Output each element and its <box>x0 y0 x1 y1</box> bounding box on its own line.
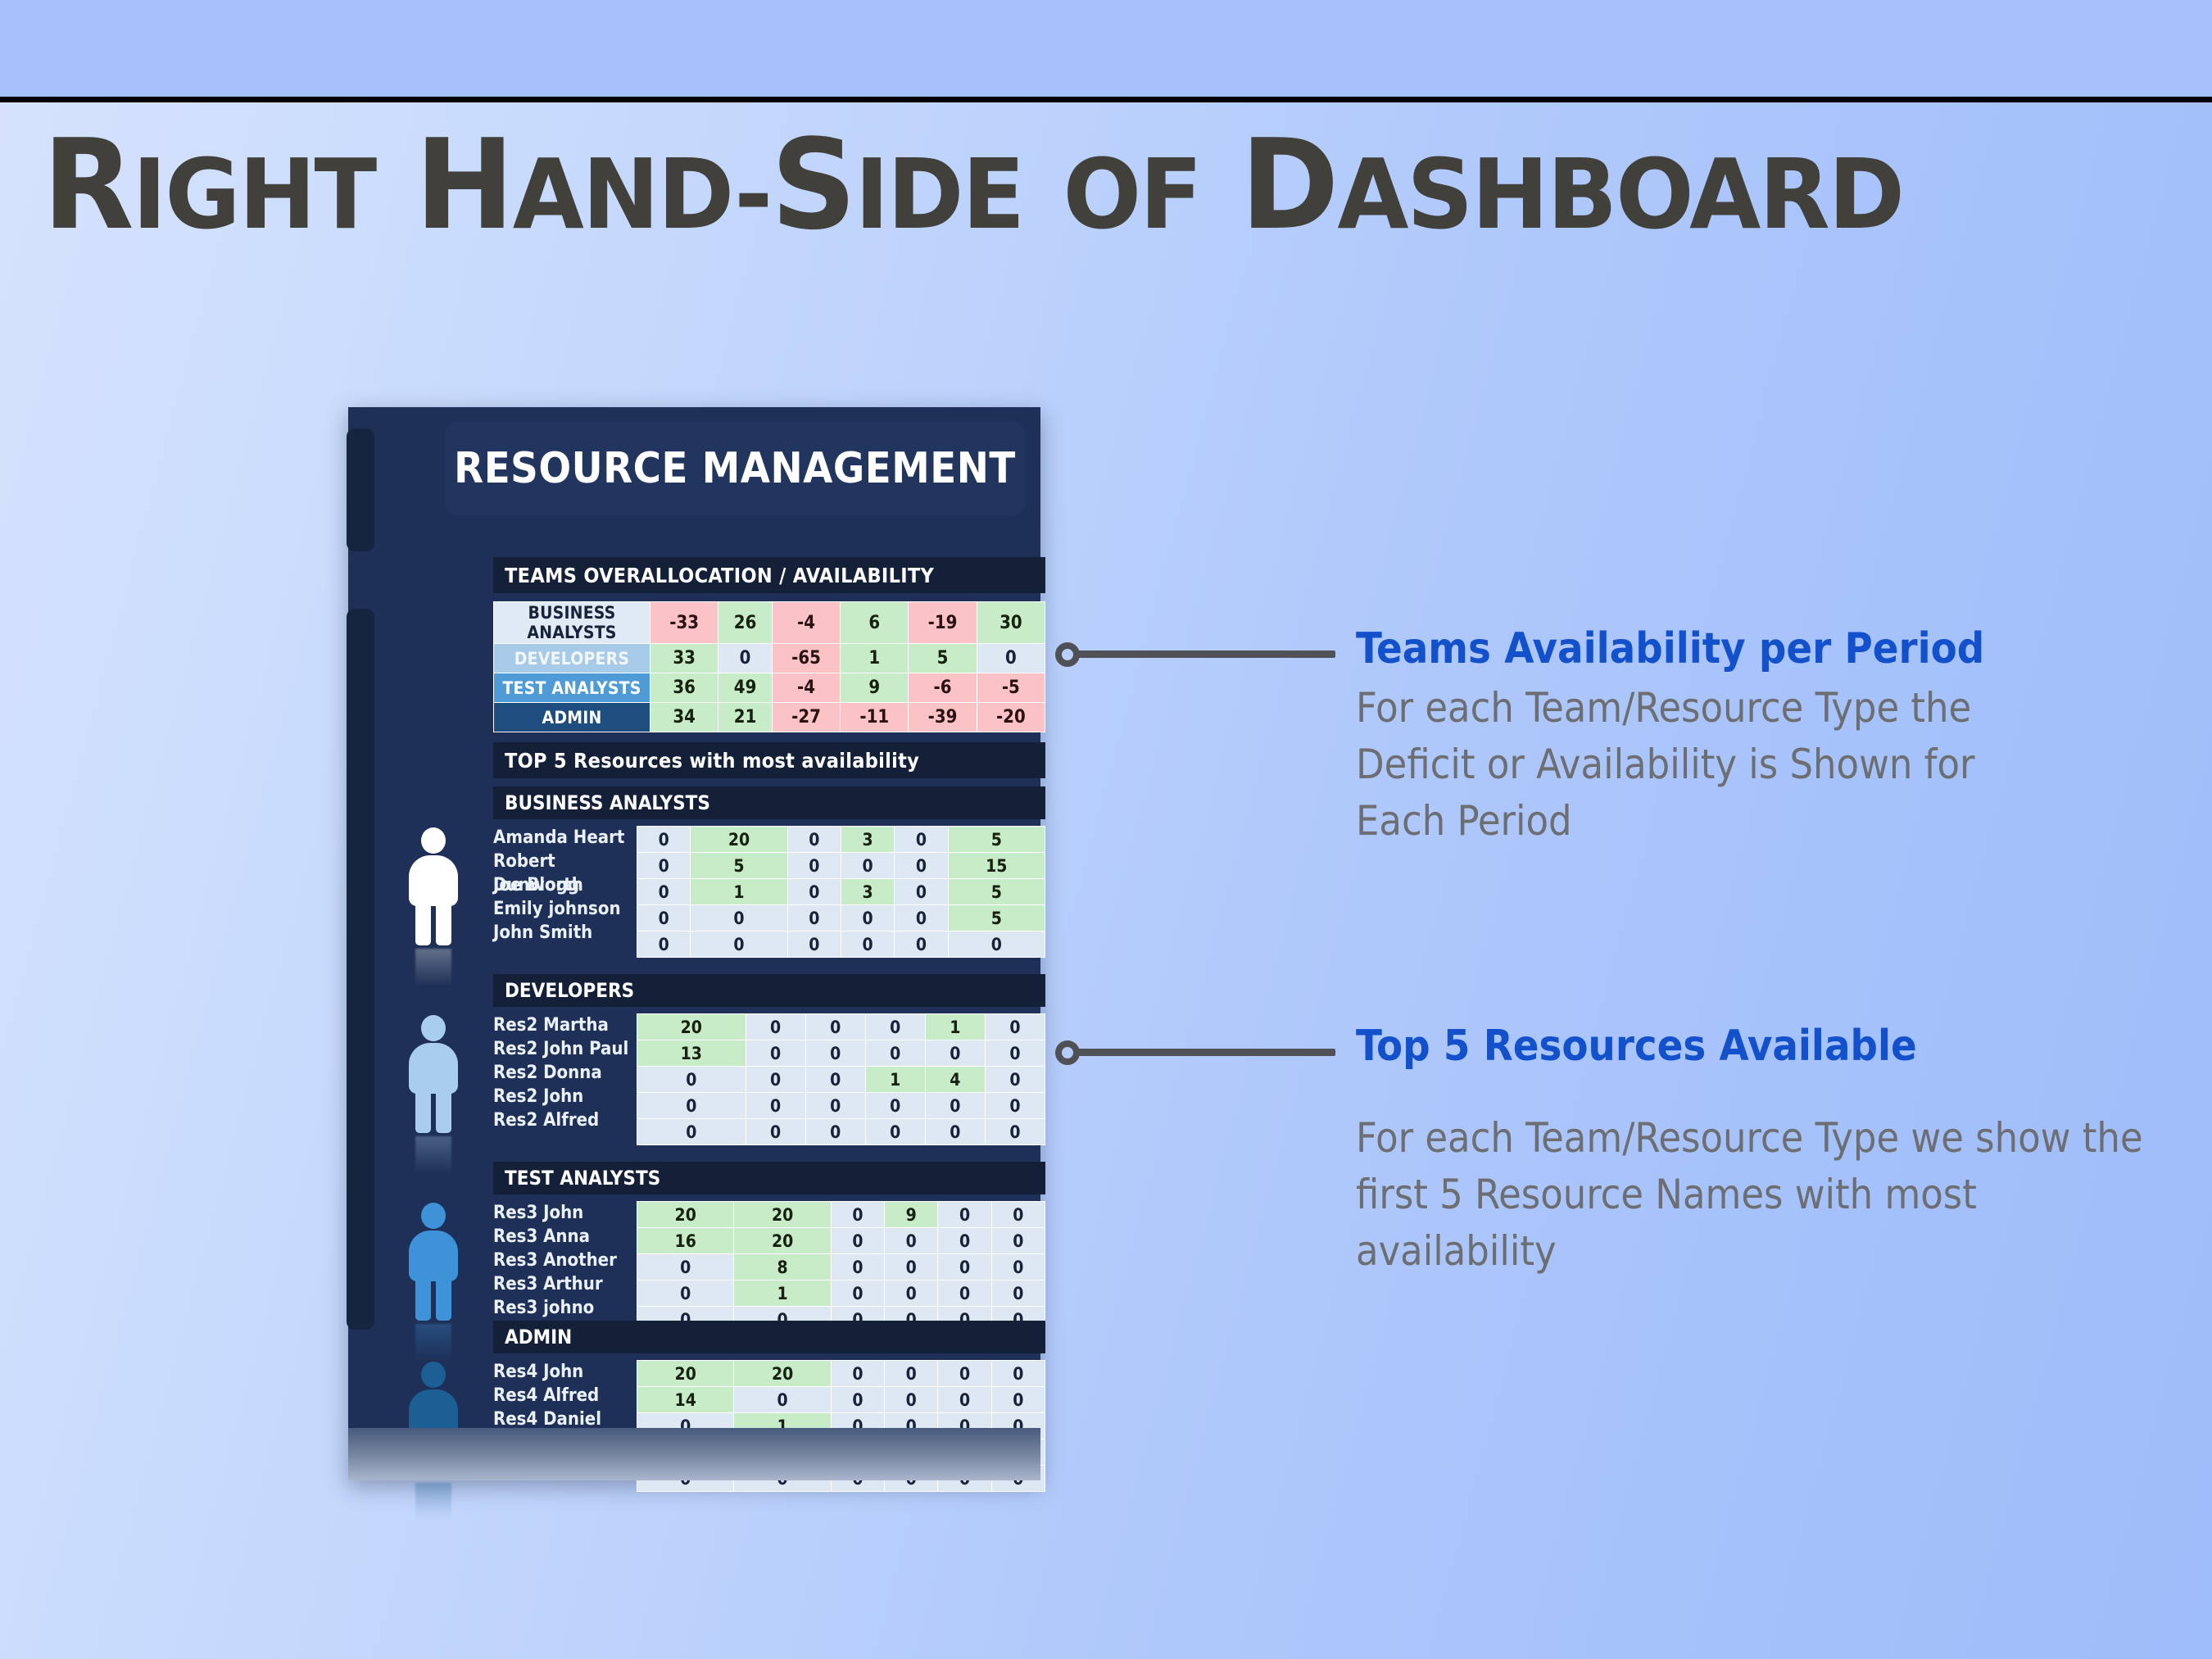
callout-body-2: For each Team/Resource Type we show the … <box>1356 1110 2183 1280</box>
resource-period-cell: 0 <box>746 1119 805 1145</box>
callout-line-1 <box>1075 650 1335 658</box>
resource-period-cell: 0 <box>938 1228 991 1254</box>
resource-period-cell: 0 <box>895 931 948 958</box>
resource-period-cell: 0 <box>991 1281 1045 1307</box>
team-period-cell: -27 <box>772 703 840 732</box>
resource-row: 080000 <box>637 1254 1045 1281</box>
resource-period-cell: 0 <box>746 1014 805 1040</box>
resource-period-cell: 9 <box>885 1202 938 1228</box>
resource-name: Joe Blogg <box>493 873 636 897</box>
top5-section-bar: TOP 5 Resources with most availability <box>493 742 1045 778</box>
resource-management-plaque: RESOURCE MANAGEMENT <box>445 422 1025 515</box>
resource-group-bar: DEVELOPERS <box>493 974 1045 1007</box>
team-period-cell: 6 <box>841 602 909 644</box>
person-icon <box>396 1013 471 1136</box>
resource-period-cell: 0 <box>831 1202 884 1228</box>
resource-name-list: Res3 JohnRes3 AnnaRes3 AnotherRes3 Arthu… <box>493 1201 636 1320</box>
resource-name: Res3 Arthur <box>493 1272 636 1296</box>
resource-period-cell: 0 <box>985 1040 1045 1067</box>
team-period-cell: 49 <box>718 673 773 703</box>
resource-period-cell: 0 <box>985 1014 1045 1040</box>
team-period-cell: -19 <box>909 602 977 644</box>
resource-row: 0500015 <box>637 853 1045 879</box>
resource-name: Robert Dunworth <box>493 850 636 873</box>
resource-name-list: Amanda HeartRobert DunworthJoe BloggEmil… <box>493 826 636 945</box>
team-period-cell: -4 <box>772 602 840 644</box>
resource-row: 16200000 <box>637 1228 1045 1254</box>
resource-period-cell: 0 <box>938 1254 991 1281</box>
resource-period-cell: 0 <box>991 1228 1045 1254</box>
resource-period-cell: 1 <box>865 1067 925 1093</box>
teams-table-row: DEVELOPERS330-65150 <box>494 644 1045 673</box>
resource-row: 000140 <box>637 1067 1045 1093</box>
resource-period-cell: 0 <box>895 905 948 931</box>
resource-period-cell: 0 <box>985 1119 1045 1145</box>
resource-period-cell: 0 <box>805 1040 865 1067</box>
resource-period-cell: 0 <box>637 827 691 853</box>
resource-period-cell: 0 <box>841 905 894 931</box>
resource-group-title: DEVELOPERS <box>493 979 634 1002</box>
callout-line-2 <box>1075 1049 1335 1056</box>
resource-period-cell: 0 <box>831 1281 884 1307</box>
resource-period-cell: 0 <box>938 1361 991 1387</box>
resource-period-cell: 14 <box>637 1387 734 1413</box>
resource-period-cell: 3 <box>841 879 894 905</box>
resource-name: Res2 Donna <box>493 1061 636 1085</box>
resource-period-cell: 0 <box>805 1093 865 1119</box>
team-label: DEVELOPERS <box>494 644 650 673</box>
resource-period-cell: 0 <box>895 827 948 853</box>
dashboard-panel: RESOURCE MANAGEMENT TEAMS OVERALLOCATION… <box>348 407 1040 1480</box>
callout-heading-1: Teams Availability per Period <box>1356 624 1984 673</box>
resource-period-cell: 0 <box>787 905 841 931</box>
resource-period-cell: 0 <box>805 1067 865 1093</box>
resource-period-cell: 0 <box>865 1119 925 1145</box>
person-icon <box>396 826 471 949</box>
resource-period-cell: 0 <box>637 931 691 958</box>
resource-period-cell: 0 <box>637 1254 734 1281</box>
resource-row: 010305 <box>637 879 1045 905</box>
team-period-cell: 21 <box>718 703 773 732</box>
resource-period-cell: 16 <box>637 1228 734 1254</box>
header-divider-rule <box>0 97 2212 102</box>
resource-management-title: RESOURCE MANAGEMENT <box>445 422 1025 515</box>
resource-period-cell: 0 <box>787 827 841 853</box>
team-period-cell: -6 <box>909 673 977 703</box>
resource-period-cell: 0 <box>938 1202 991 1228</box>
resource-period-cell: 1 <box>734 1281 831 1307</box>
resource-period-cell: 13 <box>637 1040 746 1067</box>
resource-period-cell: 4 <box>925 1067 985 1093</box>
resource-name: Res4 Alfred <box>493 1384 636 1407</box>
resource-name: Res2 John Paul <box>493 1037 636 1061</box>
resource-period-cell: 0 <box>637 853 691 879</box>
top5-section-title: TOP 5 Resources with most availability <box>493 749 919 773</box>
resource-period-cell: 20 <box>734 1202 831 1228</box>
resource-period-cell: 15 <box>948 853 1045 879</box>
team-period-cell: 33 <box>650 644 718 673</box>
resource-period-cell: 1 <box>691 879 787 905</box>
resource-period-cell: 0 <box>885 1254 938 1281</box>
resource-name: John Smith <box>493 921 636 945</box>
resource-period-cell: 0 <box>885 1361 938 1387</box>
resource-period-cell: 5 <box>948 879 1045 905</box>
team-period-cell: 0 <box>718 644 773 673</box>
resource-period-cell: 0 <box>746 1067 805 1093</box>
resource-values-table: 2020090016200000080000010000000000 <box>637 1201 1045 1333</box>
resource-period-cell: 0 <box>831 1361 884 1387</box>
resource-period-cell: 0 <box>938 1387 991 1413</box>
resource-period-cell: 20 <box>734 1228 831 1254</box>
resource-period-cell: 0 <box>691 905 787 931</box>
resource-period-cell: 0 <box>885 1387 938 1413</box>
resource-period-cell: 0 <box>991 1361 1045 1387</box>
team-label: ADMIN <box>494 703 650 732</box>
resource-period-cell: 5 <box>691 853 787 879</box>
team-period-cell: 26 <box>718 602 773 644</box>
resource-period-cell: 0 <box>865 1040 925 1067</box>
resource-period-cell: 5 <box>948 905 1045 931</box>
resource-period-cell: 20 <box>691 827 787 853</box>
resource-name: Res4 John <box>493 1360 636 1384</box>
resource-period-cell: 0 <box>925 1093 985 1119</box>
team-period-cell: 36 <box>650 673 718 703</box>
resource-period-cell: 0 <box>991 1202 1045 1228</box>
resource-values-table: 20000101300000000140000000000000 <box>637 1013 1045 1145</box>
resource-period-cell: 0 <box>925 1119 985 1145</box>
resource-name-list: Res2 MarthaRes2 John PaulRes2 DonnaRes2 … <box>493 1013 636 1132</box>
resource-name: Res3 Anna <box>493 1225 636 1249</box>
team-label: BUSINESS ANALYSTS <box>494 602 650 644</box>
resource-period-cell: 0 <box>841 931 894 958</box>
resource-name: Res2 Alfred <box>493 1108 636 1132</box>
teams-table-row: TEST ANALYSTS3649-49-6-5 <box>494 673 1045 703</box>
team-period-cell: 30 <box>977 602 1045 644</box>
resource-name: Res3 johno <box>493 1296 636 1320</box>
team-period-cell: -11 <box>841 703 909 732</box>
panel-edge-tab-bottom <box>347 609 374 1330</box>
resource-period-cell: 0 <box>885 1228 938 1254</box>
teams-overallocation-table: BUSINESS ANALYSTS-3326-46-1930DEVELOPERS… <box>493 601 1045 732</box>
team-period-cell: -5 <box>977 673 1045 703</box>
resource-period-cell: 0 <box>637 1281 734 1307</box>
teams-section-title: TEAMS OVERALLOCATION / AVAILABILITY <box>493 564 934 587</box>
team-period-cell: 9 <box>841 673 909 703</box>
resource-period-cell: 0 <box>787 879 841 905</box>
resource-period-cell: 0 <box>734 1387 831 1413</box>
top-band <box>0 0 2212 97</box>
resource-period-cell: 0 <box>831 1254 884 1281</box>
resource-name: Res3 Another <box>493 1249 636 1272</box>
resource-row: 0200305 <box>637 827 1045 853</box>
resource-group-title: BUSINESS ANALYSTS <box>493 791 710 814</box>
resource-period-cell: 20 <box>637 1202 734 1228</box>
team-period-cell: 0 <box>977 644 1045 673</box>
team-label: TEST ANALYSTS <box>494 673 650 703</box>
resource-group-title: ADMIN <box>493 1326 572 1349</box>
resource-group-bar: BUSINESS ANALYSTS <box>493 786 1045 819</box>
resource-period-cell: 0 <box>805 1014 865 1040</box>
resource-period-cell: 0 <box>938 1281 991 1307</box>
team-period-cell: -65 <box>772 644 840 673</box>
resource-name: Amanda Heart <box>493 826 636 850</box>
callout-heading-2: Top 5 Resources Available <box>1356 1022 1917 1071</box>
team-period-cell: -20 <box>977 703 1045 732</box>
teams-section-bar: TEAMS OVERALLOCATION / AVAILABILITY <box>493 557 1045 593</box>
page-title: RIGHT HAND-SIDE OF DASHBOARD <box>43 123 2212 247</box>
team-period-cell: 34 <box>650 703 718 732</box>
teams-table-row: ADMIN3421-27-11-39-20 <box>494 703 1045 732</box>
resource-period-cell: 0 <box>637 1067 746 1093</box>
resource-group-bar: TEST ANALYSTS <box>493 1162 1045 1194</box>
resource-period-cell: 0 <box>637 1093 746 1119</box>
resource-period-cell: 20 <box>637 1361 734 1387</box>
resource-period-cell: 0 <box>865 1014 925 1040</box>
resource-row: 20200900 <box>637 1202 1045 1228</box>
teams-table-row: BUSINESS ANALYSTS-3326-46-1930 <box>494 602 1045 644</box>
team-period-cell: -33 <box>650 602 718 644</box>
resource-name: Res2 John <box>493 1085 636 1108</box>
team-period-cell: -4 <box>772 673 840 703</box>
resource-period-cell: 0 <box>831 1228 884 1254</box>
resource-period-cell: 0 <box>865 1093 925 1119</box>
resource-period-cell: 0 <box>991 1254 1045 1281</box>
resource-period-cell: 0 <box>805 1119 865 1145</box>
resource-period-cell: 0 <box>746 1093 805 1119</box>
team-period-cell: 1 <box>841 644 909 673</box>
resource-group-title: TEST ANALYSTS <box>493 1167 660 1190</box>
resource-row: 000000 <box>637 1119 1045 1145</box>
resource-period-cell: 0 <box>637 879 691 905</box>
resource-period-cell: 0 <box>787 931 841 958</box>
resource-row: 1300000 <box>637 1040 1045 1067</box>
callout-body-1: For each Team/Resource Type the Deficit … <box>1356 680 2036 850</box>
resource-name: Emily johnson <box>493 897 636 921</box>
resource-period-cell: 0 <box>746 1040 805 1067</box>
resource-period-cell: 0 <box>831 1387 884 1413</box>
resource-period-cell: 20 <box>734 1361 831 1387</box>
resource-period-cell: 3 <box>841 827 894 853</box>
resource-name: Res3 John <box>493 1201 636 1225</box>
resource-group-bar: ADMIN <box>493 1321 1045 1353</box>
resource-name: Res2 Martha <box>493 1013 636 1037</box>
resource-period-cell: 0 <box>787 853 841 879</box>
resource-row: 1400000 <box>637 1387 1045 1413</box>
resource-period-cell: 8 <box>734 1254 831 1281</box>
resource-row: 000005 <box>637 905 1045 931</box>
resource-period-cell: 0 <box>637 905 691 931</box>
resource-period-cell: 0 <box>991 1387 1045 1413</box>
resource-row: 000000 <box>637 931 1045 958</box>
slide-canvas <box>0 102 2212 1659</box>
resource-row: 2000010 <box>637 1014 1045 1040</box>
resource-period-cell: 0 <box>895 853 948 879</box>
resource-period-cell: 0 <box>841 853 894 879</box>
resource-period-cell: 5 <box>948 827 1045 853</box>
team-period-cell: -39 <box>909 703 977 732</box>
resource-period-cell: 20 <box>637 1014 746 1040</box>
resource-period-cell: 1 <box>925 1014 985 1040</box>
team-period-cell: 5 <box>909 644 977 673</box>
panel-reflection <box>348 1428 1040 1480</box>
person-icon <box>396 1201 471 1324</box>
resource-period-cell: 0 <box>885 1281 938 1307</box>
resource-values-table: 02003050500015010305000005000000 <box>637 826 1045 958</box>
resource-row: 20200000 <box>637 1361 1045 1387</box>
resource-period-cell: 0 <box>691 931 787 958</box>
resource-period-cell: 0 <box>895 879 948 905</box>
resource-period-cell: 0 <box>637 1119 746 1145</box>
resource-period-cell: 0 <box>948 931 1045 958</box>
resource-row: 000000 <box>637 1093 1045 1119</box>
resource-period-cell: 0 <box>925 1040 985 1067</box>
resource-period-cell: 0 <box>985 1093 1045 1119</box>
resource-row: 010000 <box>637 1281 1045 1307</box>
panel-edge-tab-top <box>347 428 374 551</box>
resource-period-cell: 0 <box>985 1067 1045 1093</box>
